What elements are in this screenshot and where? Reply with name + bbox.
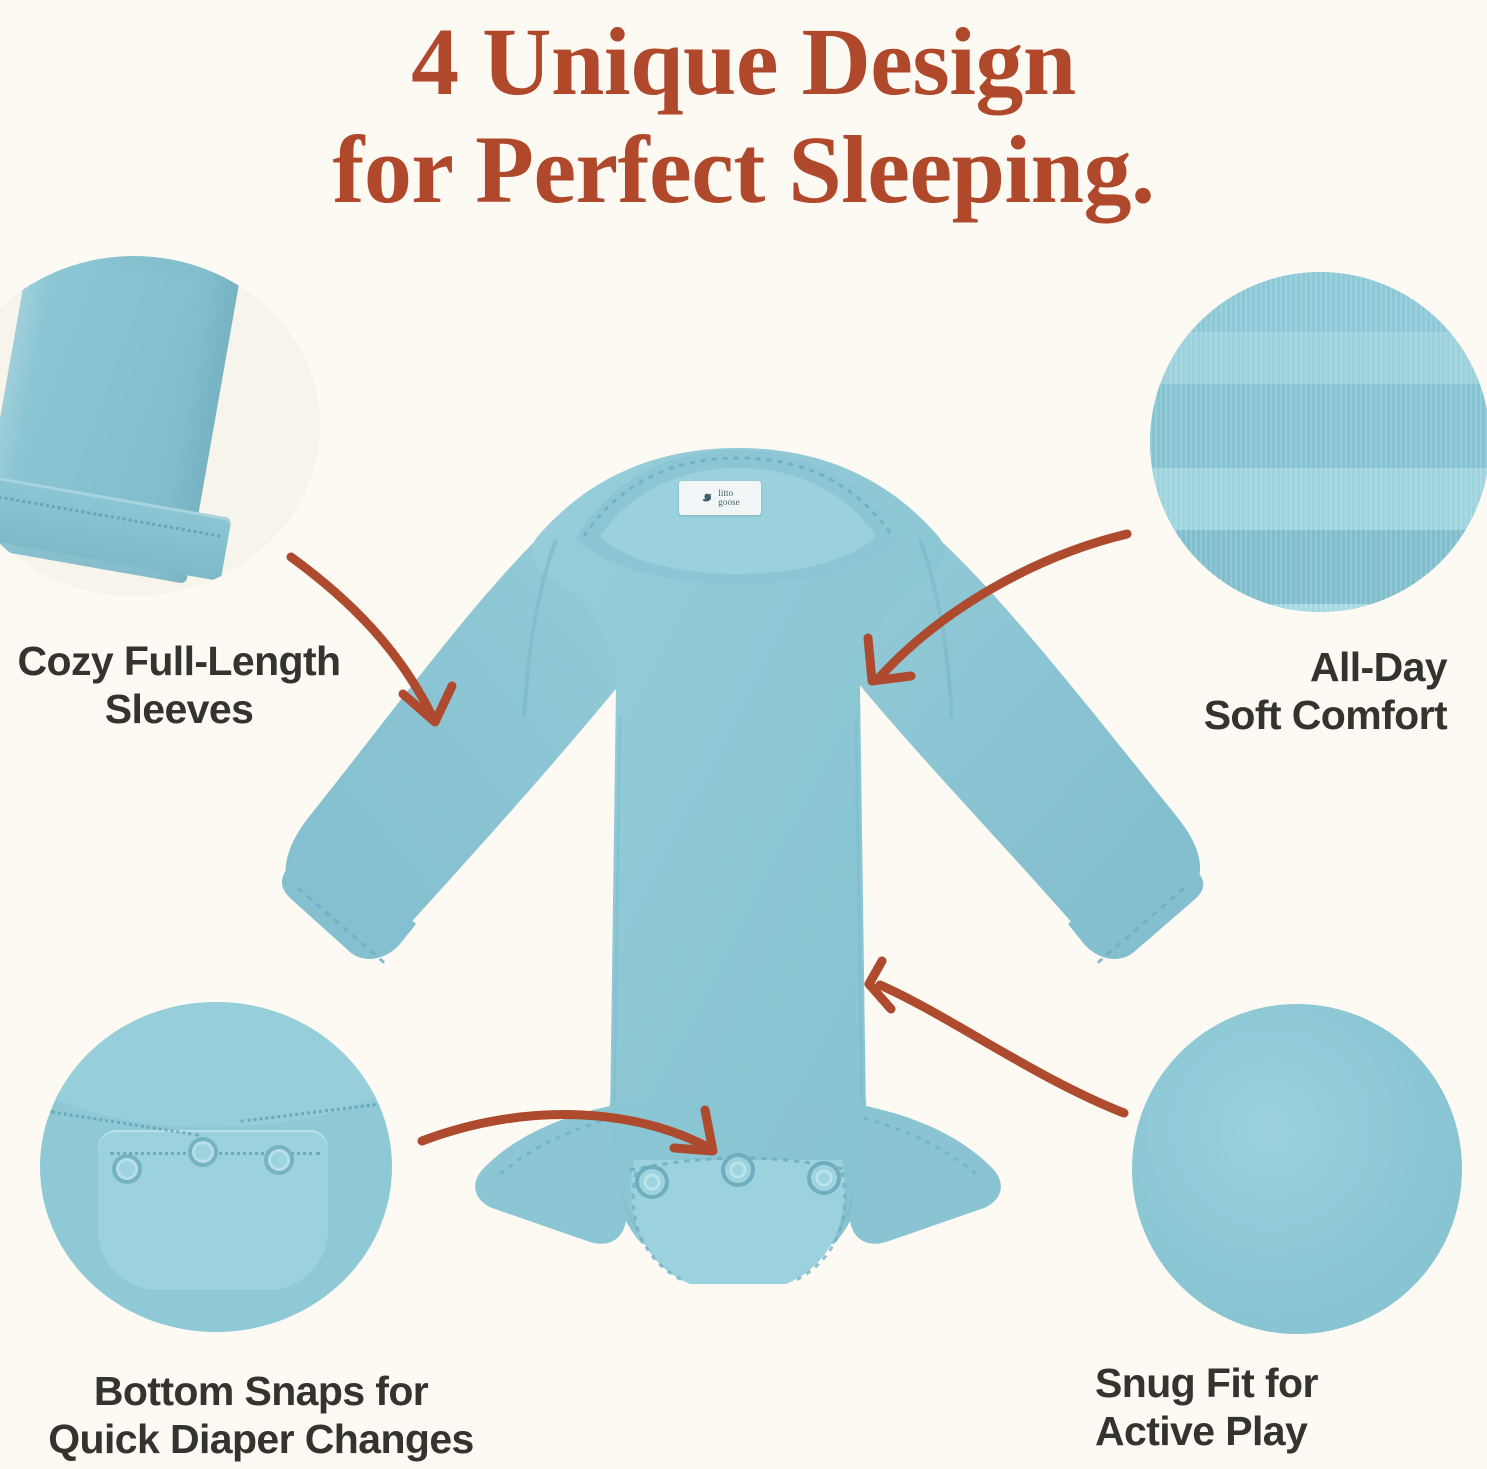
snap-button [188, 1137, 218, 1167]
snap-button [112, 1154, 142, 1184]
snap-button [723, 1155, 753, 1185]
brand-name: litto goose [718, 489, 740, 507]
right-leg-flap [850, 1106, 1001, 1244]
infographic-canvas: 4 Unique Design for Perfect Sleeping. [0, 0, 1487, 1469]
feature-label-comfort: All-Day Soft Comfort [1097, 644, 1447, 739]
bodysuit-illustration [238, 418, 1248, 1288]
snap-button [809, 1163, 839, 1193]
feature-label-snaps: Bottom Snaps for Quick Diaper Changes [46, 1368, 476, 1463]
snap-button [637, 1167, 667, 1197]
page-title: 4 Unique Design for Perfect Sleeping. [0, 8, 1487, 223]
product-image-bodysuit [238, 418, 1248, 1288]
feature-label-sleeves: Cozy Full-Length Sleeves [4, 638, 354, 733]
goose-icon [700, 491, 714, 505]
brand-neck-tag: litto goose [679, 481, 761, 515]
left-leg-flap [475, 1106, 626, 1244]
feature-label-snug: Snug Fit for Active Play [1095, 1360, 1425, 1455]
bottom-hem [606, 1098, 870, 1160]
